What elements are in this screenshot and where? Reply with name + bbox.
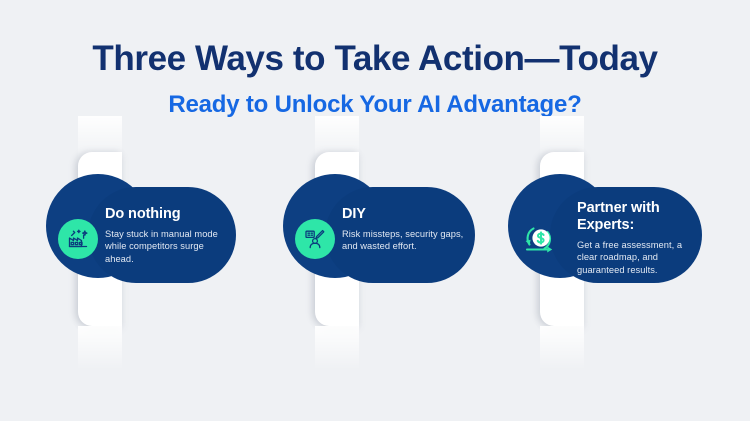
card-body-text: Risk missteps, security gaps, and wasted… [342, 228, 470, 253]
ribbon-fade-bottom [78, 326, 122, 370]
card-heading: Partner with Experts: [577, 200, 682, 234]
cards-container: Do nothing Stay stuck in manual mode whi… [0, 0, 750, 421]
card-body-text: Stay stuck in manual mode while competit… [105, 228, 231, 265]
card-text-block: Partner with Experts: Get a free assessm… [577, 200, 702, 276]
card-heading: DIY [342, 206, 470, 223]
card-heading: Do nothing [105, 206, 231, 223]
slide-canvas: Three Ways to Take Action—Today Ready to… [0, 0, 750, 421]
dollar-coin-cycle-icon [516, 216, 562, 262]
ribbon-fade-bottom [540, 326, 584, 370]
card-body-text: Get a free assessment, a clear roadmap, … [577, 239, 702, 276]
ribbon-fade-bottom [315, 326, 359, 370]
factory-stagnant-icon [58, 219, 98, 259]
card-text-block: DIY Risk missteps, security gaps, and wa… [342, 206, 470, 253]
card-text-block: Do nothing Stay stuck in manual mode whi… [105, 206, 231, 265]
person-with-tool-icon [295, 219, 335, 259]
